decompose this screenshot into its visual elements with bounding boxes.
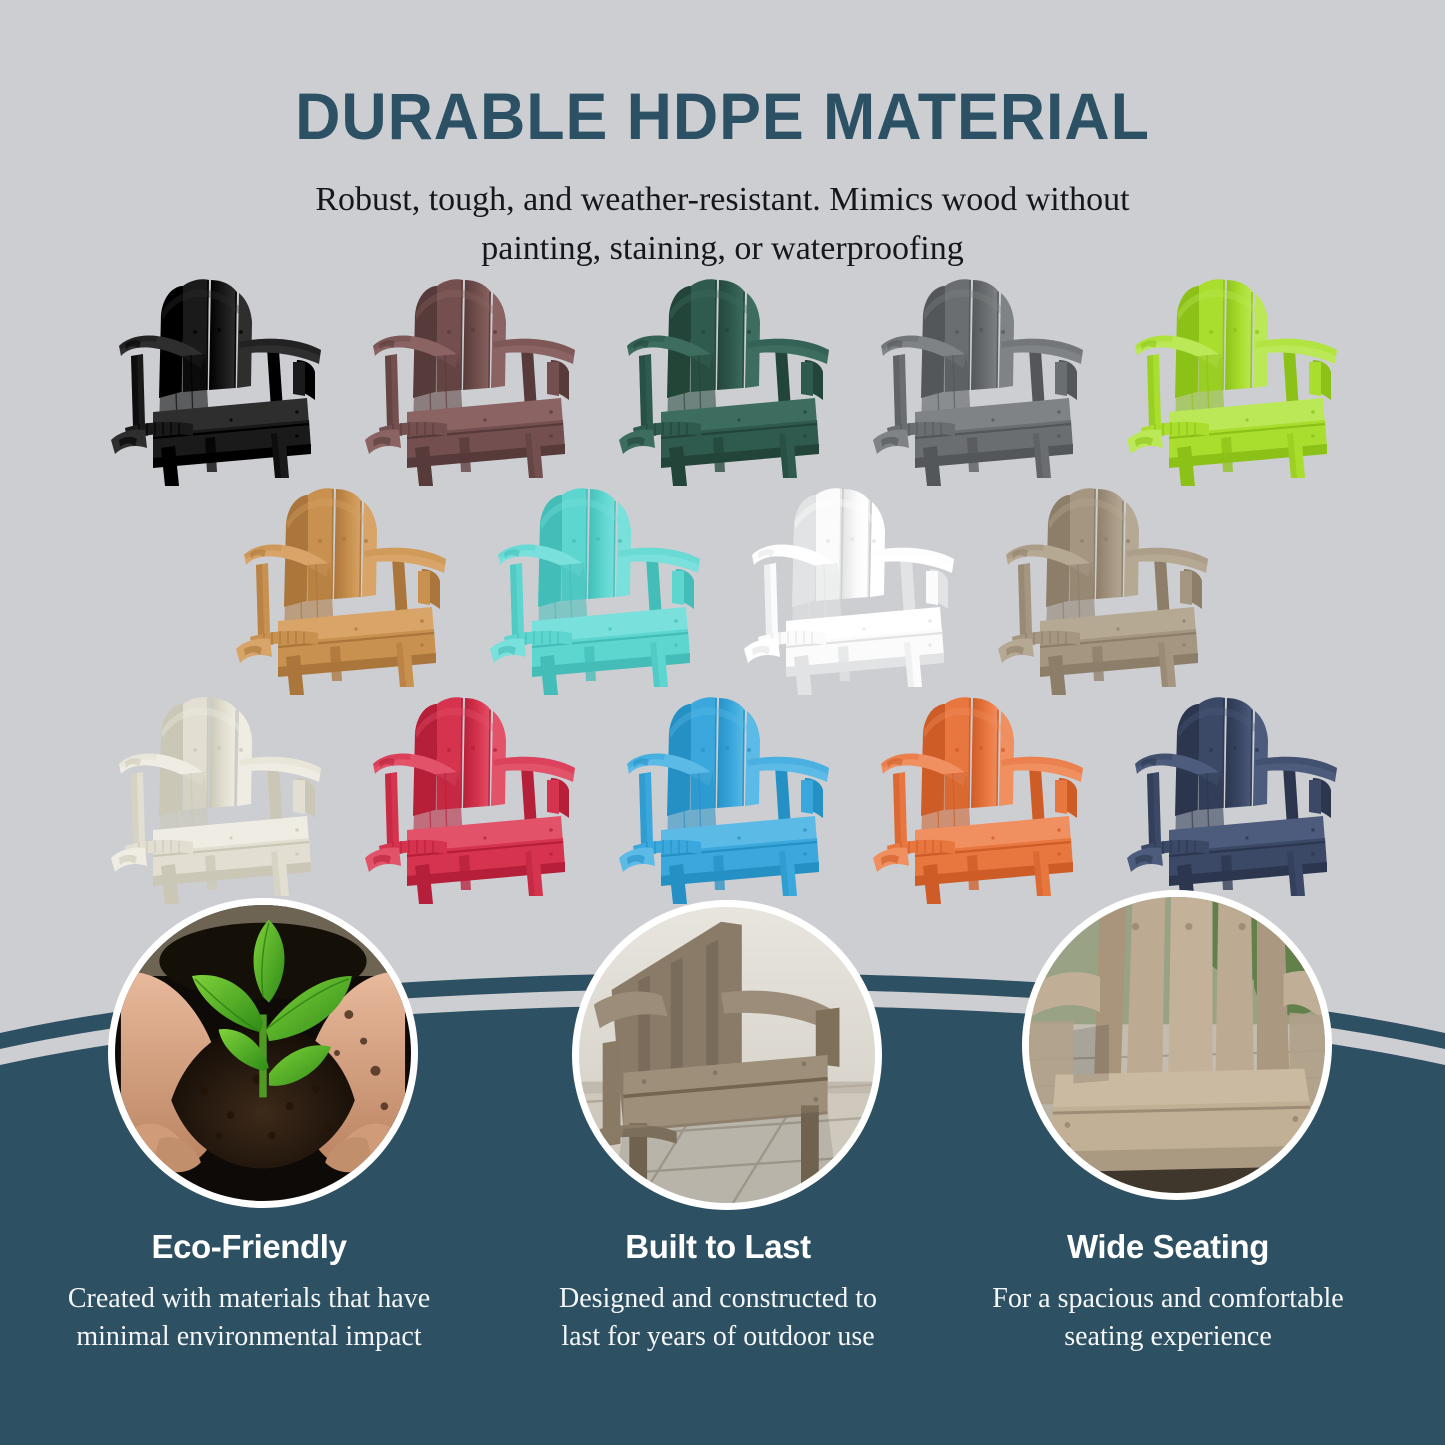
feature-body-line-2: seating experience	[1064, 1321, 1272, 1352]
adirondack-chair-brown	[355, 272, 587, 487]
chair-swatch-ivory[interactable]	[101, 690, 333, 905]
feature-body: Designed and constructed to last for yea…	[512, 1280, 924, 1355]
outdoor-chair-icon	[579, 907, 875, 1203]
chair-color-grid	[0, 272, 1445, 905]
feature-photos	[0, 898, 1445, 1218]
chair-swatch-gray[interactable]	[863, 272, 1095, 487]
feature-body: For a spacious and comfortable seating e…	[952, 1280, 1384, 1355]
feature-body-line-2: last for years of outdoor use	[561, 1321, 874, 1352]
adirondack-chair-gray	[863, 272, 1095, 487]
page-subtitle: Robust, tough, and weather-resistant. Mi…	[223, 175, 1223, 274]
adirondack-chair-black	[101, 272, 333, 487]
poster-canvas: DURABLE HDPE MATERIAL Robust, tough, and…	[0, 0, 1445, 1445]
feature-body: Created with materials that have minimal…	[14, 1280, 484, 1355]
chair-swatch-orange[interactable]	[863, 690, 1095, 905]
adirondack-chair-white	[734, 481, 966, 696]
chair-row-2	[0, 481, 1445, 696]
adirondack-chair-ivory	[101, 690, 333, 905]
adirondack-chair-blue	[609, 690, 841, 905]
chair-row-1	[4, 272, 1445, 487]
chair-swatch-blue[interactable]	[609, 690, 841, 905]
subtitle-line-2: painting, staining, or waterproofing	[223, 224, 1223, 273]
chair-swatch-turquoise[interactable]	[480, 481, 712, 696]
chair-swatch-brown[interactable]	[355, 272, 587, 487]
chair-swatch-taupe[interactable]	[988, 481, 1220, 696]
chair-swatch-red[interactable]	[355, 690, 587, 905]
chair-row-3	[4, 690, 1445, 905]
feature-body-line-1: Created with materials that have	[68, 1283, 430, 1314]
feature-title: Eco-Friendly	[14, 1228, 484, 1266]
adirondack-chair-green	[609, 272, 841, 487]
adirondack-chair-taupe	[988, 481, 1220, 696]
feature-built-to-last: Built to Last Designed and constructed t…	[498, 1228, 938, 1408]
feature-photo-wide-seating	[1022, 890, 1332, 1200]
feature-title: Built to Last	[512, 1228, 924, 1266]
chair-swatch-black[interactable]	[101, 272, 333, 487]
chair-swatch-lime[interactable]	[1117, 272, 1349, 487]
chair-swatch-green[interactable]	[609, 272, 841, 487]
chair-swatch-navy[interactable]	[1117, 690, 1349, 905]
feature-wide-seating: Wide Seating For a spacious and comforta…	[938, 1228, 1398, 1408]
feature-captions: Eco-Friendly Created with materials that…	[0, 1228, 1445, 1408]
feature-body-line-2: minimal environmental impact	[76, 1321, 421, 1352]
feature-photo-built-to-last	[572, 900, 882, 1210]
adirondack-chair-orange	[863, 690, 1095, 905]
adirondack-chair-teak	[226, 481, 458, 696]
wide-seat-closeup-icon	[1029, 897, 1325, 1193]
chair-swatch-teak[interactable]	[226, 481, 458, 696]
adirondack-chair-turquoise	[480, 481, 712, 696]
adirondack-chair-navy	[1117, 690, 1349, 905]
feature-body-line-1: For a spacious and comfortable	[992, 1283, 1343, 1314]
chair-swatch-white[interactable]	[734, 481, 966, 696]
feature-body-line-1: Designed and constructed to	[559, 1283, 877, 1314]
adirondack-chair-red	[355, 690, 587, 905]
page-title: DURABLE HDPE MATERIAL	[36, 78, 1409, 154]
feature-photo-eco-friendly	[108, 898, 418, 1208]
adirondack-chair-lime	[1117, 272, 1349, 487]
subtitle-line-1: Robust, tough, and weather-resistant. Mi…	[223, 175, 1223, 224]
feature-eco-friendly: Eco-Friendly Created with materials that…	[0, 1228, 498, 1408]
feature-title: Wide Seating	[952, 1228, 1384, 1266]
seedling-in-hands-icon	[115, 905, 411, 1201]
